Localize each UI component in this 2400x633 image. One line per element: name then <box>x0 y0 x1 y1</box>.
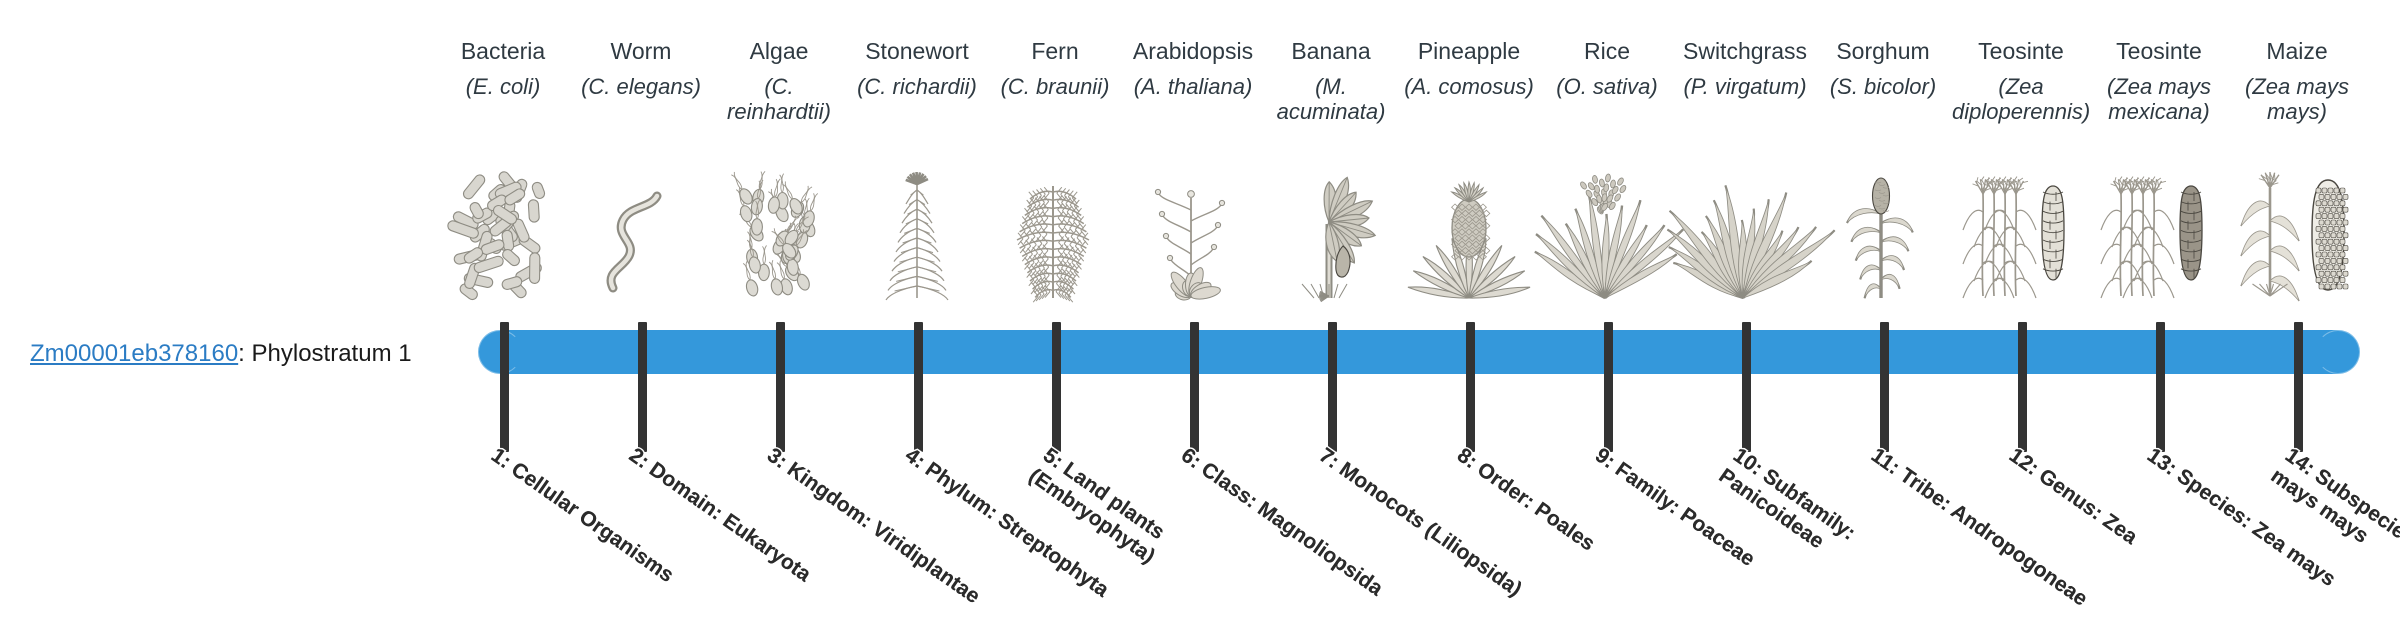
taxonomy-label-column: 9: Family: Poaceae9: Family: Poaceae <box>1541 0 1673 580</box>
taxonomy-label-column: 6: Class: Magnoliopsida6: Class: Magnoli… <box>1127 0 1259 580</box>
taxonomy-level-label: 14: Subspecies: Zea mays mays <box>2266 443 2400 633</box>
taxonomy-label-column: 5: Land plants (Embryophyta)5: Land plan… <box>989 0 1121 580</box>
taxonomy-labels-layer: 1: Cellular Organisms1: Cellular Organis… <box>466 0 2380 580</box>
taxonomy-level-label: 14: Subspecies: Zea mays mays <box>2266 443 2400 633</box>
gene-phylostratum-label: Zm00001eb378160: Phylostratum 1 <box>30 340 450 368</box>
label-separator: : <box>238 340 251 367</box>
taxonomy-label-column: 3: Kingdom: Viridiplantae3: Kingdom: Vir… <box>713 0 845 580</box>
gene-id-link[interactable]: Zm00001eb378160 <box>30 340 238 367</box>
taxonomy-label-column: 11: Tribe: Andropogoneae11: Tribe: Andro… <box>1817 0 1949 580</box>
taxonomy-label-column: 12: Genus: Zea12: Genus: Zea <box>1955 0 2087 580</box>
taxonomy-label-column: 2: Domain: Eukaryota2: Domain: Eukaryota <box>575 0 707 580</box>
taxonomy-label-column: 1: Cellular Organisms1: Cellular Organis… <box>437 0 569 580</box>
taxonomy-label-column: 14: Subspecies: Zea mays mays14: Subspec… <box>2231 0 2363 580</box>
phylostratigraphy-figure: Zm00001eb378160: Phylostratum 1 Bacteria… <box>0 0 2400 580</box>
phylostratum-value: Phylostratum 1 <box>252 340 412 367</box>
taxonomy-label-column: 8: Order: Poales8: Order: Poales <box>1403 0 1535 580</box>
taxonomy-label-column: 10: Subfamily: Panicoideae10: Subfamily:… <box>1679 0 1811 580</box>
taxonomy-label-column: 13: Species: Zea mays13: Species: Zea ma… <box>2093 0 2225 580</box>
taxonomy-label-column: 4: Phylum: Streptophyta4: Phylum: Strept… <box>851 0 983 580</box>
taxonomy-label-column: 7: Monocots (Liliopsida)7: Monocots (Lil… <box>1265 0 1397 580</box>
